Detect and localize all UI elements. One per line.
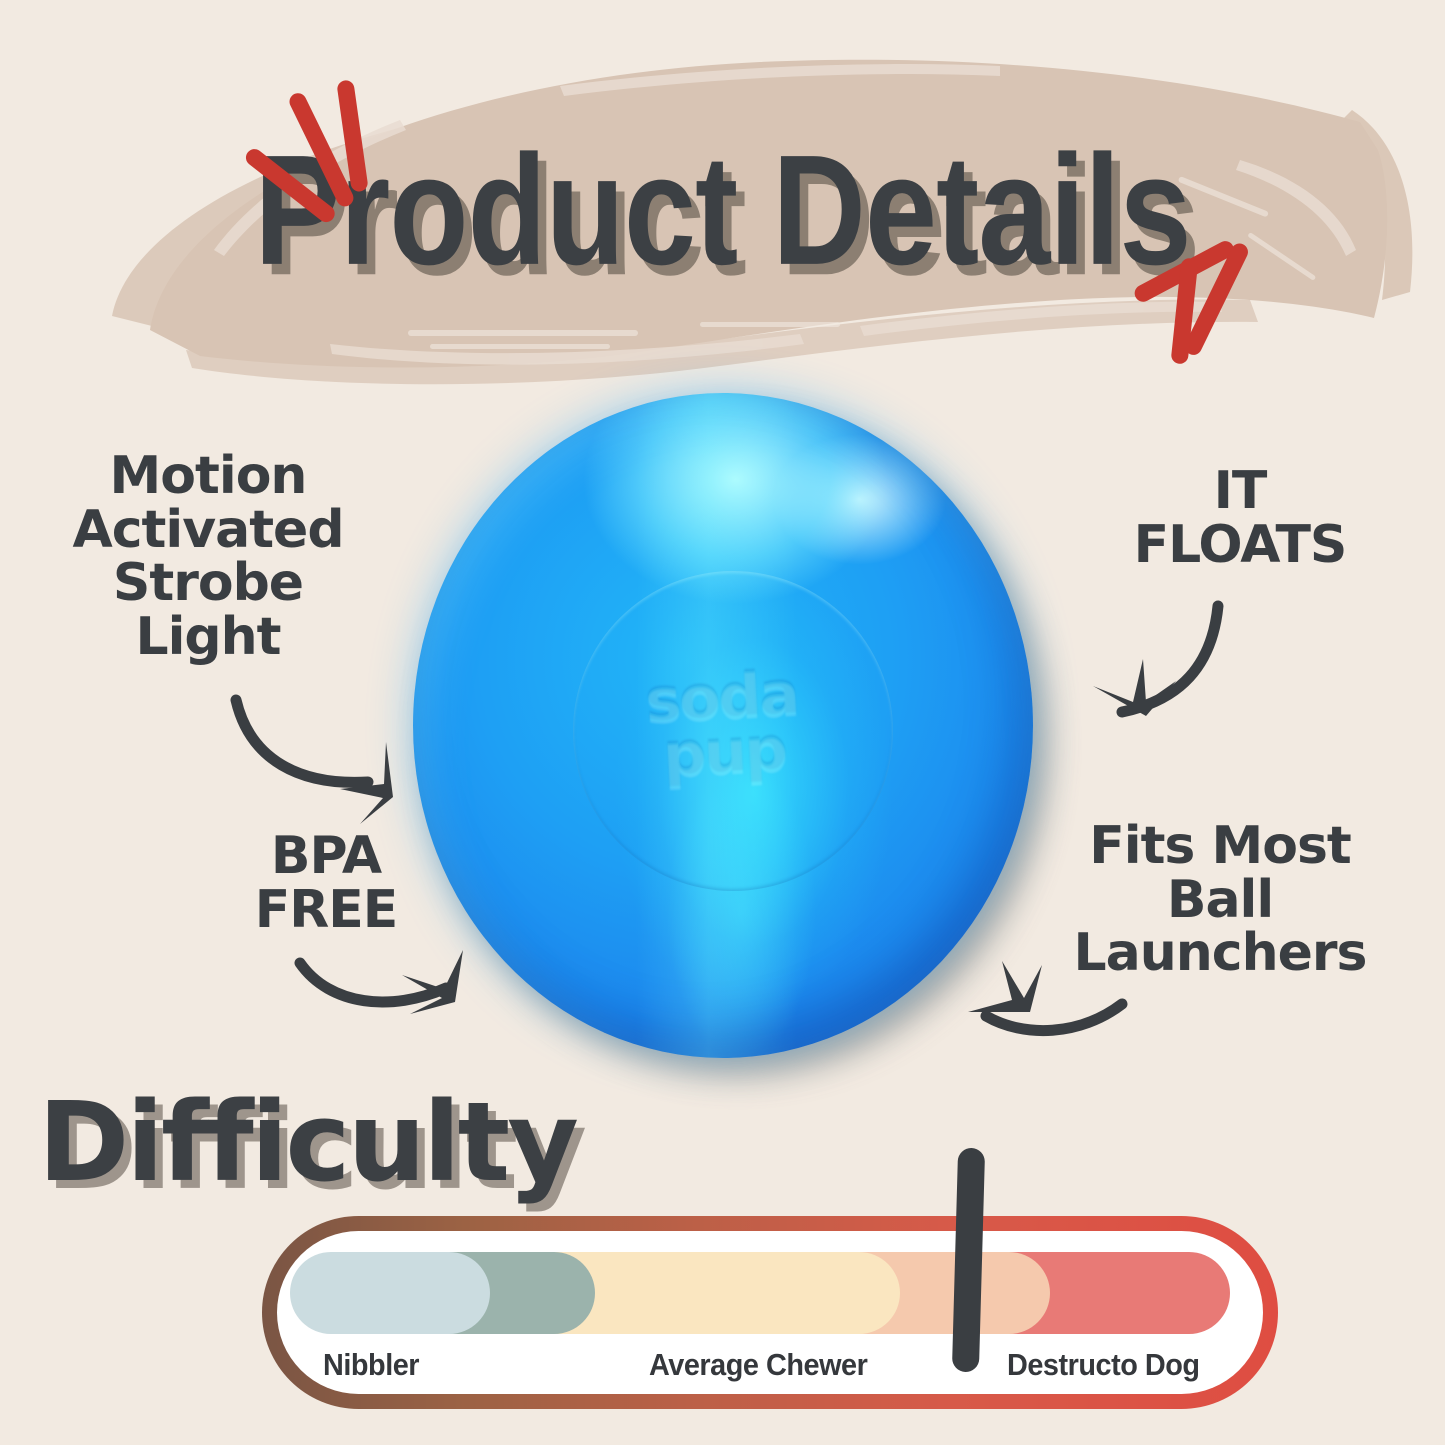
- meter-bands: [290, 1252, 1230, 1334]
- arrow-strobe-line: [236, 700, 368, 782]
- accent-marks: [0, 0, 1445, 400]
- meter-label-average: Average Chewer: [649, 1347, 867, 1383]
- difficulty-title: Difficulty: [38, 1078, 576, 1206]
- feature-label-floats: ITFLOATS: [1075, 465, 1405, 572]
- feature-label-ball-launchers: Fits MostBallLaunchers: [1040, 820, 1400, 981]
- logo-line-2: pup: [661, 714, 787, 790]
- meter-label-nibbler: Nibbler: [323, 1347, 419, 1383]
- feature-label-strobe: MotionActivatedStrobeLight: [28, 450, 388, 664]
- ball-sphere: soda pup: [413, 393, 1033, 1058]
- feature-label-bpa-free: BPAFREE: [196, 830, 456, 937]
- arrow-floats-head: [1093, 659, 1176, 716]
- infographic-canvas: Product Details soda pup: [0, 0, 1445, 1445]
- arrow-strobe-head: [340, 742, 393, 824]
- accent-mark-right-group: [1132, 238, 1251, 365]
- arrow-floats-line: [1122, 606, 1218, 712]
- meter-track: Nibbler Average Chewer Destructo Dog: [277, 1231, 1263, 1394]
- meter-labels: Nibbler Average Chewer Destructo Dog: [277, 1347, 1263, 1387]
- product-ball: soda pup: [405, 385, 1055, 1085]
- product-logo: soda pup: [590, 664, 855, 788]
- meter-label-destructo: Destructo Dog: [1007, 1347, 1200, 1383]
- accent-mark-left-group: [243, 79, 369, 225]
- meter-band-nibbler: [290, 1252, 490, 1334]
- difficulty-meter[interactable]: Nibbler Average Chewer Destructo Dog: [262, 1216, 1278, 1409]
